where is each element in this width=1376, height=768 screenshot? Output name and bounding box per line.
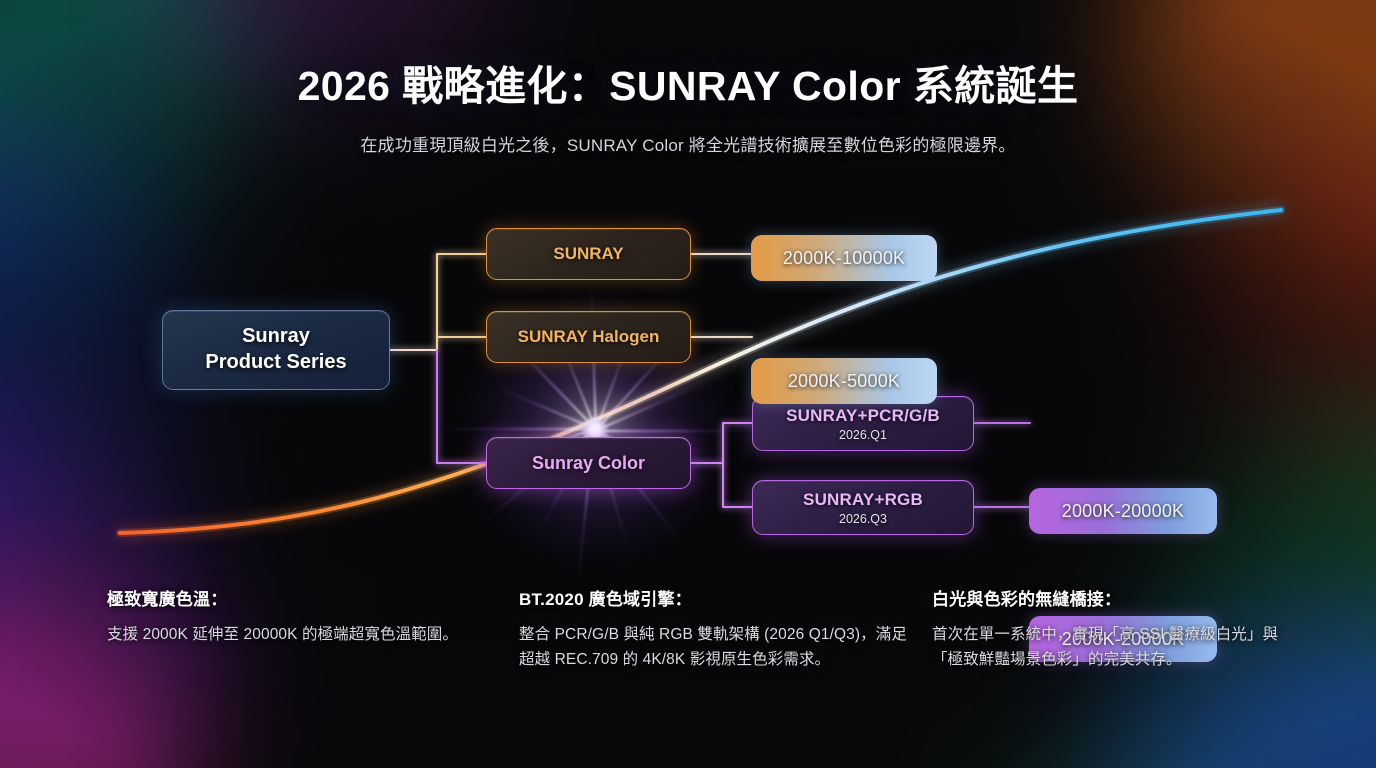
feature-2-body: 整合 PCR/G/B 與純 RGB 雙軌架構 (2026 Q1/Q3)，滿足超越…: [519, 622, 909, 672]
node-rgb-sublabel: 2026.Q3: [839, 512, 887, 526]
node-sunray-pcr-gb[interactable]: SUNRAY+PCR/G/B 2026.Q1: [752, 396, 974, 451]
slide-canvas: 2026 戰略進化：SUNRAY Color 系統誕生 在成功重現頂級白光之後，…: [0, 0, 1376, 768]
feature-column-2: BT.2020 廣色域引擎： 整合 PCR/G/B 與純 RGB 雙軌架構 (2…: [519, 585, 909, 672]
node-sunray[interactable]: SUNRAY: [486, 228, 691, 280]
node-sunray-color-label: Sunray Color: [532, 453, 645, 474]
value-pcr-cct-text: 2000K-20000K: [1062, 501, 1185, 522]
node-root-sunray-product-series[interactable]: Sunray Product Series: [162, 310, 390, 390]
value-sunray-cct-text: 2000K-10000K: [783, 248, 906, 269]
feature-1-heading: 極致寬廣色溫：: [107, 585, 477, 610]
node-rgb-label: SUNRAY+RGB: [803, 490, 923, 510]
feature-column-1: 極致寬廣色溫： 支援 2000K 延伸至 20000K 的極端超寬色溫範圍。: [107, 585, 477, 647]
value-sunray-cct[interactable]: 2000K-10000K: [752, 236, 936, 280]
node-pcr-sublabel: 2026.Q1: [839, 428, 887, 442]
node-sunray-color[interactable]: Sunray Color: [486, 437, 691, 489]
feature-2-heading: BT.2020 廣色域引擎：: [519, 585, 909, 610]
node-sunray-halogen[interactable]: SUNRAY Halogen: [486, 311, 691, 363]
root-label-line1: Sunray: [242, 324, 310, 350]
node-sunray-rgb[interactable]: SUNRAY+RGB 2026.Q3: [752, 480, 974, 535]
value-halogen-cct[interactable]: 2000K-5000K: [752, 359, 936, 403]
node-halogen-label: SUNRAY Halogen: [518, 327, 660, 347]
value-pcr-cct[interactable]: 2000K-20000K: [1030, 489, 1216, 533]
root-label-line2: Product Series: [205, 350, 346, 376]
node-pcr-label: SUNRAY+PCR/G/B: [786, 406, 940, 426]
feature-3-body: 首次在單一系統中，實現「高 SSI 醫療級白光」與「極致鮮豔場景色彩」的完美共存…: [932, 622, 1302, 672]
feature-1-body: 支援 2000K 延伸至 20000K 的極端超寬色溫範圍。: [107, 622, 477, 647]
node-sunray-label: SUNRAY: [553, 244, 623, 264]
feature-column-3: 白光與色彩的無縫橋接： 首次在單一系統中，實現「高 SSI 醫療級白光」與「極致…: [932, 585, 1302, 672]
feature-3-heading: 白光與色彩的無縫橋接：: [932, 585, 1302, 610]
value-halogen-cct-text: 2000K-5000K: [788, 371, 900, 392]
feature-columns: 極致寬廣色溫： 支援 2000K 延伸至 20000K 的極端超寬色溫範圍。 B…: [0, 585, 1376, 745]
